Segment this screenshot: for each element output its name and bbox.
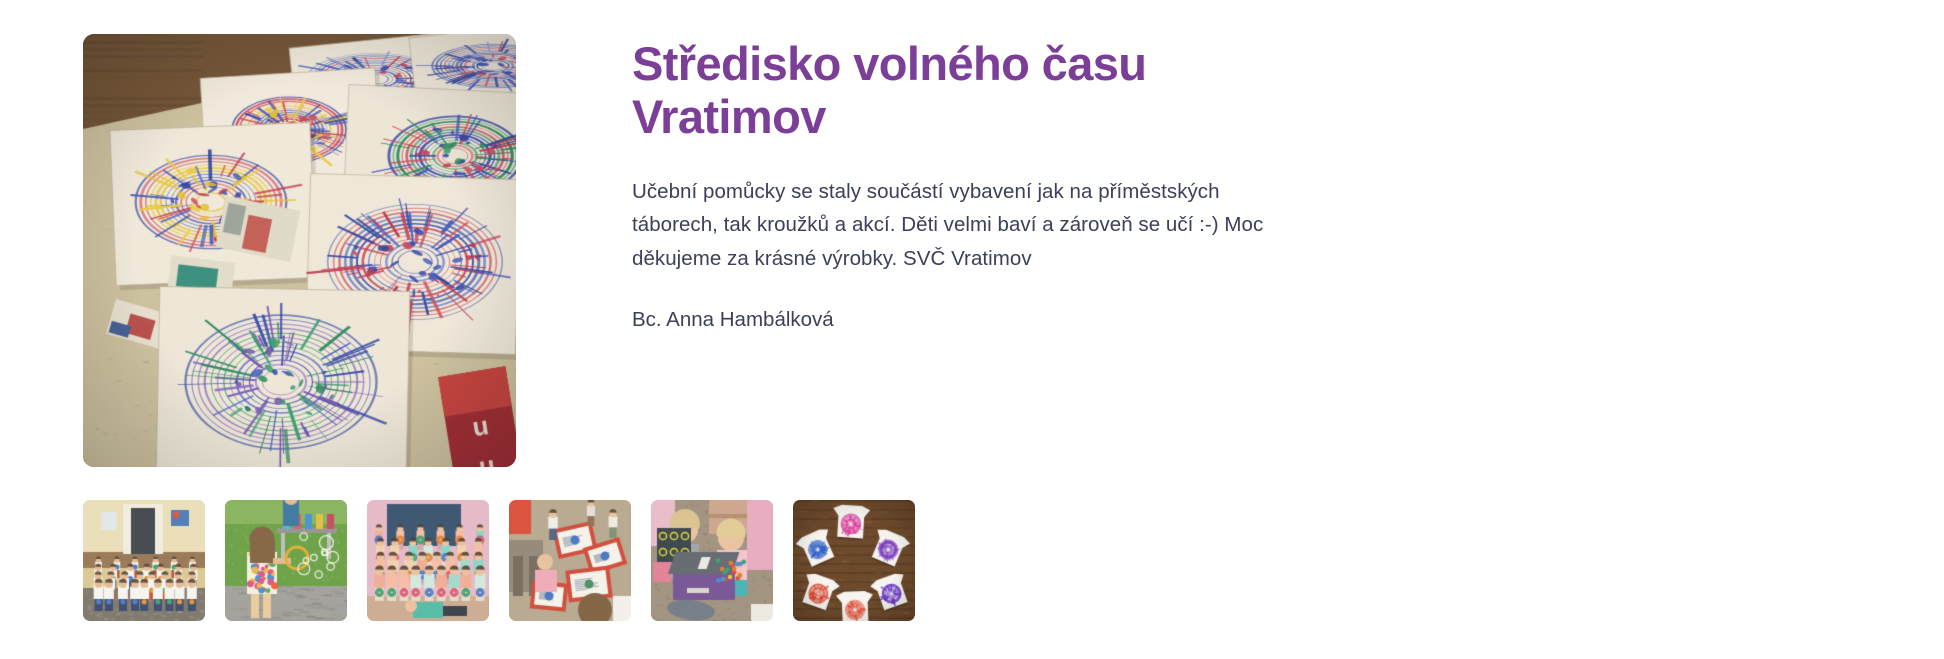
- testimonial-gallery-block: Středisko volného času Vratimov Učební p…: [0, 0, 1944, 659]
- testimonial-text-column: Středisko volného času Vratimov Učební p…: [632, 34, 1292, 336]
- thumbnail-1[interactable]: [83, 500, 205, 621]
- thumbnail-1-canvas: [83, 500, 205, 621]
- testimonial-top-row: Středisko volného času Vratimov Učební p…: [83, 34, 1292, 467]
- thumbnail-4[interactable]: [509, 500, 631, 621]
- thumbnail-3[interactable]: [367, 500, 489, 621]
- thumbnail-2[interactable]: [225, 500, 347, 621]
- page-title: Středisko volného času Vratimov: [632, 38, 1292, 143]
- thumbnail-4-canvas: [509, 500, 631, 621]
- testimonial-author: Bc. Anna Hambálková: [632, 305, 1292, 336]
- hero-image-canvas: [83, 34, 516, 467]
- hero-image[interactable]: [83, 34, 516, 467]
- thumbnail-2-canvas: [225, 500, 347, 621]
- thumbnail-3-canvas: [367, 500, 489, 621]
- thumbnail-6[interactable]: [793, 500, 915, 621]
- thumbnail-5-canvas: [651, 500, 773, 621]
- testimonial-body: Učební pomůcky se staly součástí vybaven…: [632, 175, 1292, 275]
- thumbnail-5[interactable]: [651, 500, 773, 621]
- thumbnail-6-canvas: [793, 500, 915, 621]
- thumbnail-strip: [83, 500, 915, 621]
